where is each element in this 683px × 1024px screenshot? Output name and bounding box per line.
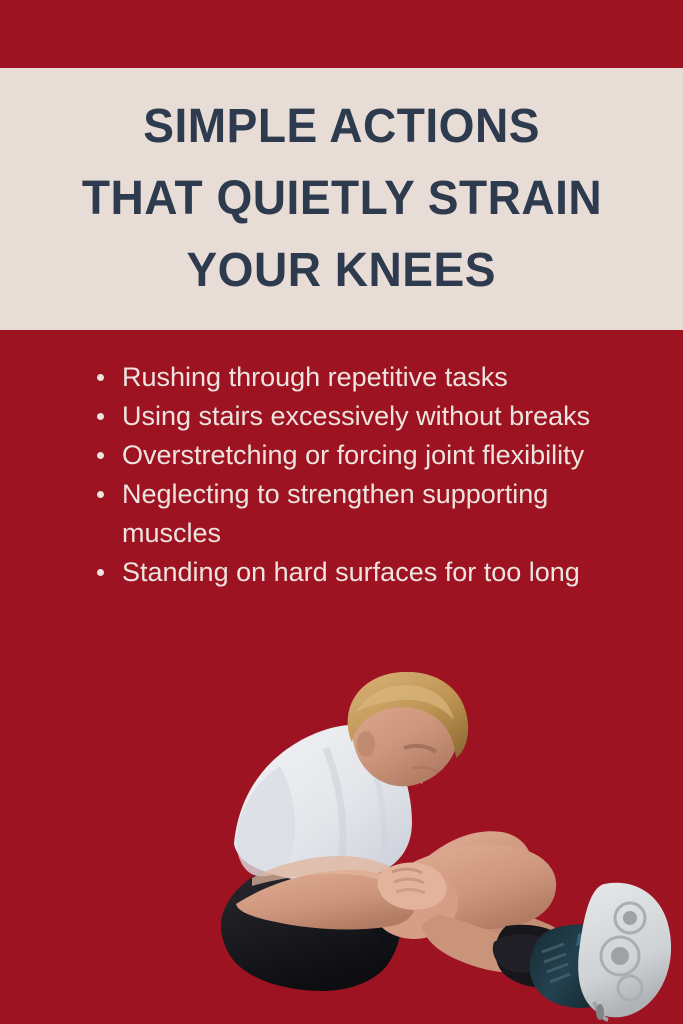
list-item-label: Rushing through repetitive tasks — [122, 362, 508, 392]
title-band: SIMPLE ACTIONS THAT QUIETLY STRAIN YOUR … — [0, 68, 683, 330]
bullet-dot-icon — [97, 569, 104, 576]
bullet-dot-icon — [97, 413, 104, 420]
list-item: Rushing through repetitive tasks — [88, 358, 613, 397]
sole-tread — [623, 911, 637, 925]
page-title-line-3: YOUR KNEES — [187, 235, 496, 307]
list-item: Using stairs excessively without breaks — [88, 397, 613, 436]
list-item: Overstretching or forcing joint flexibil… — [88, 436, 613, 475]
strain-causes-list: Rushing through repetitive tasks Using s… — [88, 358, 613, 592]
knee-pain-illustration — [206, 672, 683, 1024]
knee-pain-photo — [206, 672, 683, 1024]
infographic-poster: SIMPLE ACTIONS THAT QUIETLY STRAIN YOUR … — [0, 0, 683, 1024]
sole-notch — [596, 1004, 604, 1020]
bullet-dot-icon — [97, 452, 104, 459]
page-title-line-1: SIMPLE ACTIONS — [143, 91, 540, 163]
list-item-label: Standing on hard surfaces for too long — [122, 557, 580, 587]
list-item-label: Using stairs excessively without breaks — [122, 401, 590, 431]
sole-tread — [611, 947, 629, 965]
list-item-label: Overstretching or forcing joint flexibil… — [122, 440, 584, 470]
page-title-line-2: THAT QUIETLY STRAIN — [81, 163, 601, 235]
bullet-dot-icon — [97, 491, 104, 498]
list-item: Standing on hard surfaces for too long — [88, 553, 613, 592]
list-item: Neglecting to strengthen supporting musc… — [88, 475, 613, 553]
ear — [357, 731, 375, 757]
tshirt-sleeve — [236, 766, 295, 876]
list-item-label: Neglecting to strengthen supporting musc… — [122, 479, 548, 548]
bullet-dot-icon — [97, 374, 104, 381]
